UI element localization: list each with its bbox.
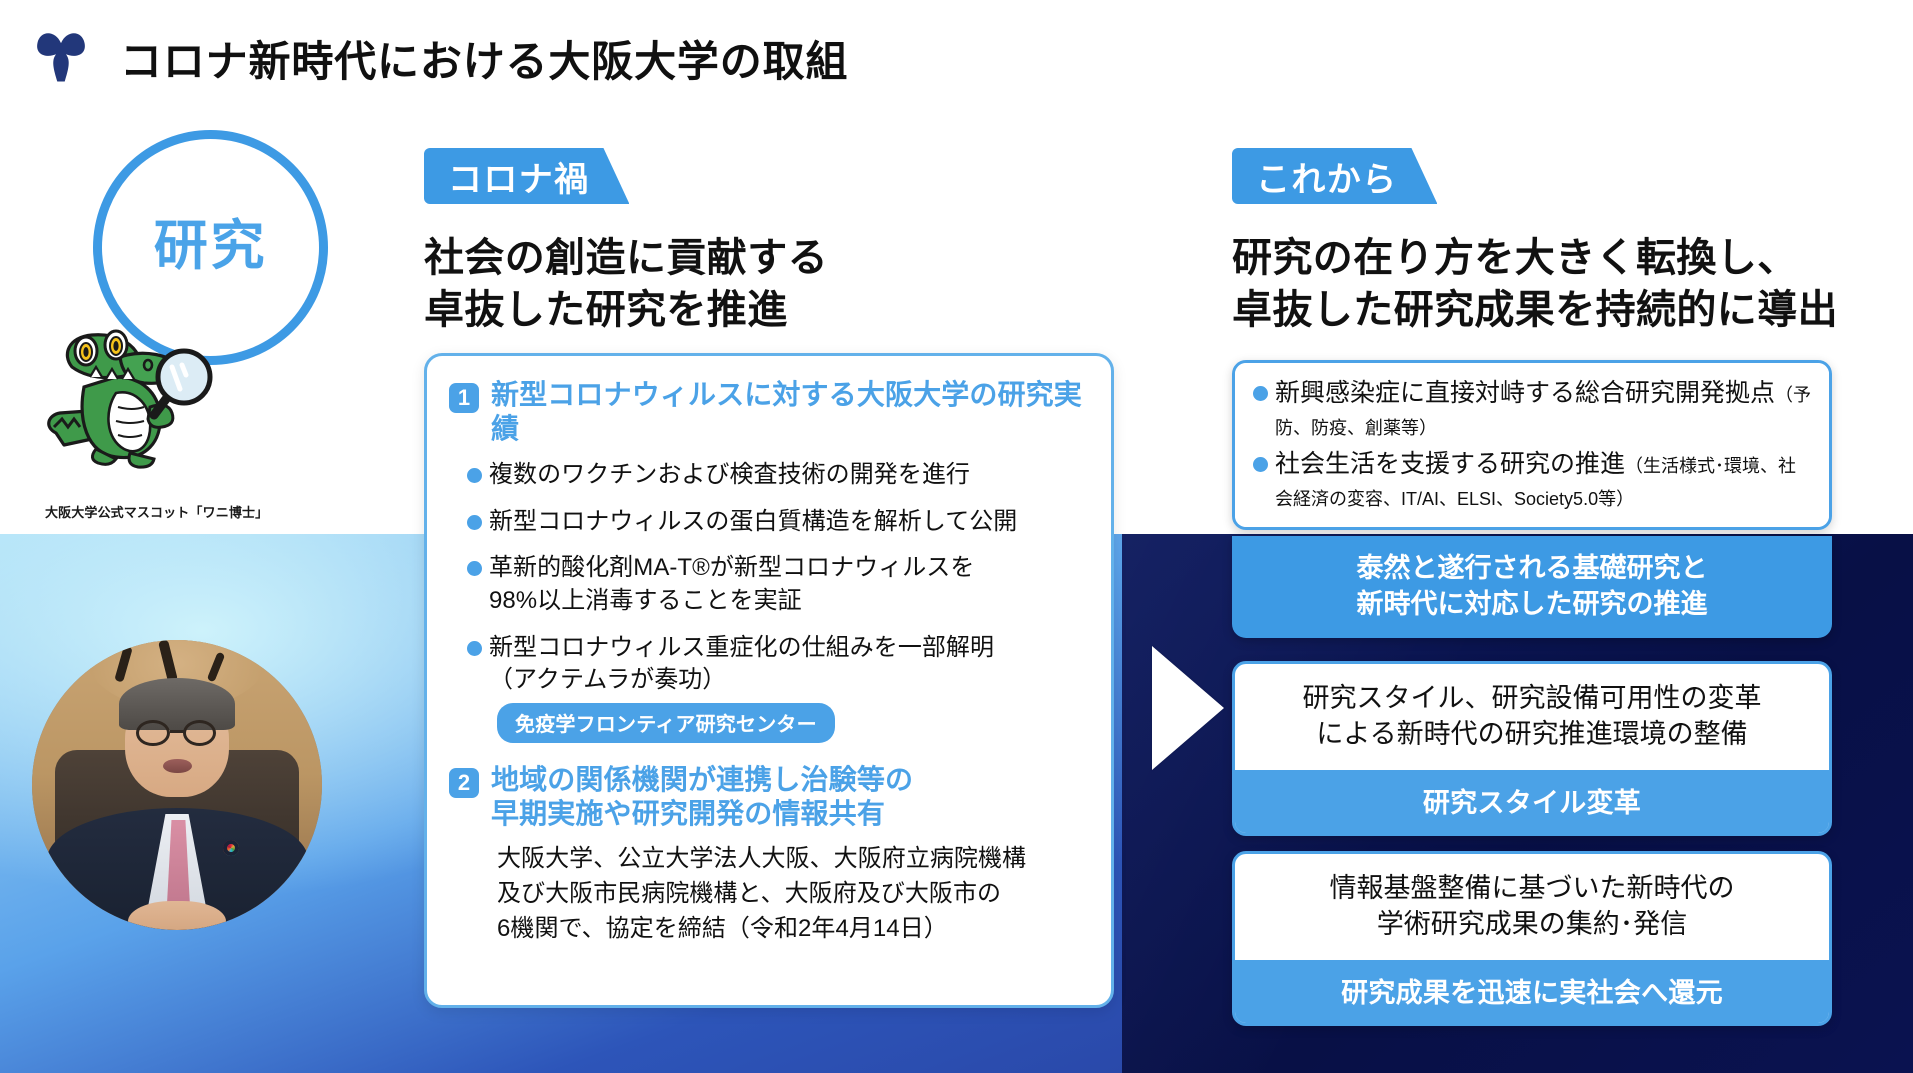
future-bullets-body: 新興感染症に直接対峙する総合研究開発拠点（予防、防疫、創薬等） 社会生活を支援す… — [1235, 363, 1829, 527]
badge-future-label: これから — [1256, 152, 1397, 201]
wani-hakase-crocodile-mascot — [38, 315, 253, 470]
list-item-text: 社会生活を支援する研究の推進 — [1275, 450, 1625, 478]
badge-corona-era: コロナ禍 — [424, 148, 629, 204]
section-number-badge: 2 — [449, 768, 479, 798]
list-item-text: 新興感染症に直接対峙する総合研究開発拠点 — [1275, 379, 1775, 407]
past-section-1-heading: 1 新型コロナウィルスに対する大阪大学の研究実績 — [449, 378, 1085, 445]
bullet-dot-icon — [467, 468, 482, 483]
future-card-body: 情報基盤整備に基づいた新時代の 学術研究成果の集約･発信 — [1235, 854, 1829, 960]
research-center-tag: 免疫学フロンティア研究センター — [497, 703, 835, 743]
list-item: 新興感染症に直接対峙する総合研究開発拠点（予防、防疫、創薬等） — [1253, 377, 1813, 442]
future-headline: 研究の在り方を大きく転換し、 卓抜した研究成果を持続的に導出 — [1232, 232, 1838, 336]
list-item: 新型コロナウィルスの蛋白質構造を解析して公開 — [467, 506, 1085, 539]
past-headline: 社会の創造に貢献する 卓抜した研究を推進 — [424, 232, 828, 336]
future-card-research-style: 研究スタイル、研究設備可用性の変革 による新時代の研究推進環境の整備 研究スタイ… — [1232, 661, 1832, 836]
section-title: 新型コロナウィルスに対する大阪大学の研究実績 — [491, 378, 1085, 445]
future-card-body: 研究スタイル、研究設備可用性の変革 による新時代の研究推進環境の整備 — [1235, 664, 1829, 770]
list-item-text: 新型コロナウィルスの蛋白質構造を解析して公開 — [489, 506, 1017, 539]
research-circle-label: 研究 — [102, 201, 319, 280]
future-card-footer: 研究成果を迅速に実社会へ還元 — [1235, 960, 1829, 1023]
osaka-university-logo — [30, 22, 92, 84]
list-item-text: 複数のワクチンおよび検査技術の開発を進行 — [489, 459, 970, 492]
list-item: 複数のワクチンおよび検査技術の開発を進行 — [467, 459, 1085, 492]
future-card-information-base: 情報基盤整備に基づいた新時代の 学術研究成果の集約･発信 研究成果を迅速に実社会… — [1232, 851, 1832, 1026]
transition-arrow-icon — [1152, 646, 1224, 770]
future-banner: 泰然と遂行される基礎研究と 新時代に対応した研究の推進 — [1232, 536, 1832, 638]
header: コロナ新時代における大阪大学の取組 — [0, 0, 1913, 104]
past-section-2-heading: 2 地域の関係機関が連携し治験等の 早期実施や研究開発の情報共有 — [449, 763, 1085, 830]
past-content-card: 1 新型コロナウィルスに対する大阪大学の研究実績 複数のワクチンおよび検査技術の… — [424, 353, 1114, 1008]
badge-corona-era-label: コロナ禍 — [448, 152, 589, 201]
bullet-dot-icon — [467, 561, 482, 576]
slide-root: コロナ新時代における大阪大学の取組 研究 — [0, 0, 1913, 1073]
list-item-text: 新型コロナウィルス重症化の仕組みを一部解明 （アクテムラが奏功） — [489, 632, 994, 697]
bullet-dot-icon — [467, 515, 482, 530]
list-item: 革新的酸化剤MA-T®が新型コロナウィルスを 98%以上消毒することを実証 — [467, 552, 1085, 617]
past-section-2-paragraph: 大阪大学、公立大学法人大阪、大阪府立病院機構 及び大阪市民病院機構と、大阪府及び… — [497, 842, 1085, 946]
section-title: 地域の関係機関が連携し治験等の 早期実施や研究開発の情報共有 — [491, 763, 913, 830]
badge-future: これから — [1232, 148, 1437, 204]
bullet-dot-icon — [1253, 457, 1268, 472]
future-bullets-card: 新興感染症に直接対峙する総合研究開発拠点（予防、防疫、創薬等） 社会生活を支援す… — [1232, 360, 1832, 530]
past-section-1-bullets: 複数のワクチンおよび検査技術の開発を進行 新型コロナウィルスの蛋白質構造を解析し… — [449, 459, 1085, 697]
list-item: 新型コロナウィルス重症化の仕組みを一部解明 （アクテムラが奏功） — [467, 632, 1085, 697]
list-item: 社会生活を支援する研究の推進（生活様式･環境、社会経済の変容、IT/AI、ELS… — [1253, 448, 1813, 513]
future-card-footer: 研究スタイル変革 — [1235, 770, 1829, 833]
bullet-dot-icon — [1253, 386, 1268, 401]
section-number-badge: 1 — [449, 383, 479, 413]
list-item-text: 革新的酸化剤MA-T®が新型コロナウィルスを 98%以上消毒することを実証 — [489, 552, 974, 617]
page-title: コロナ新時代における大阪大学の取組 — [120, 28, 848, 89]
bullet-dot-icon — [467, 641, 482, 656]
president-portrait-photo — [32, 640, 322, 930]
mascot-caption: 大阪大学公式マスコット「ワニ博士」 — [45, 502, 268, 521]
